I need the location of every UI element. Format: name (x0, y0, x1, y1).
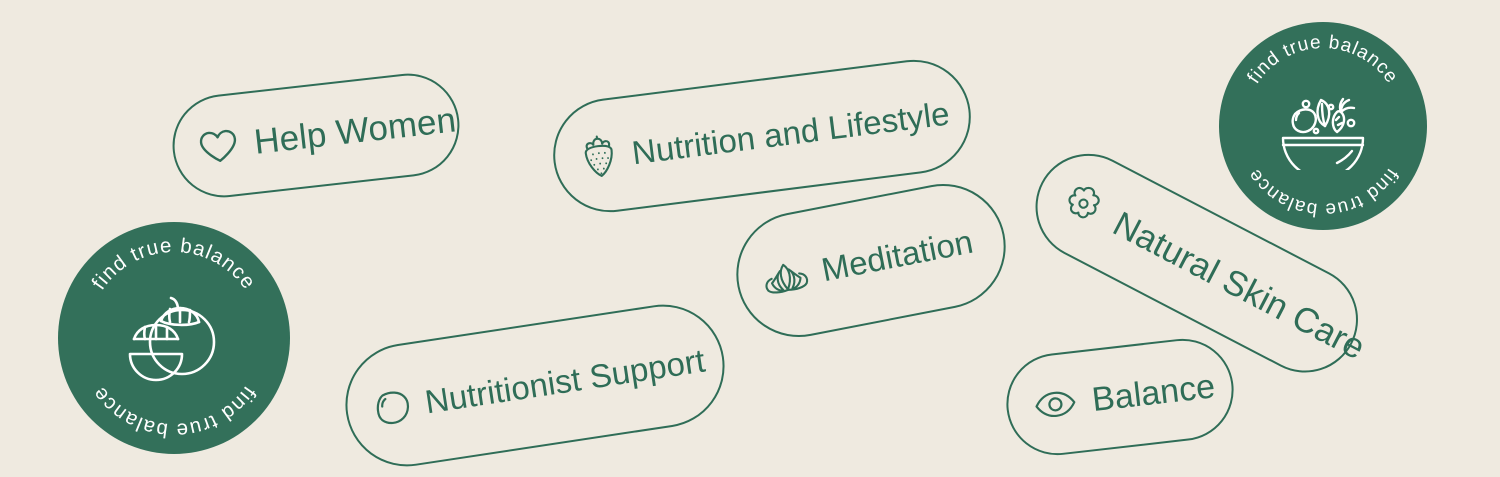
chip-meditation[interactable]: Meditation (726, 173, 1017, 348)
chip-nutritionist-support-label: Nutritionist Support (423, 344, 707, 419)
chip-help-women[interactable]: Help Women (167, 68, 465, 202)
svg-text:find true balance: find true balance (1244, 32, 1403, 88)
eye-icon (1033, 388, 1078, 421)
chip-balance[interactable]: Balance (1001, 333, 1239, 460)
mangosteen-fruit-icon (120, 294, 228, 382)
seal-badge-right[interactable]: find true balance find true balance (1219, 22, 1427, 230)
tag-cloud-canvas: find true balance find true balance (0, 0, 1500, 477)
chip-balance-label: Balance (1090, 369, 1217, 417)
svg-text:find true balance: find true balance (87, 234, 260, 294)
heart-icon (197, 126, 241, 166)
lotus-icon (760, 255, 812, 299)
seal-badge-left[interactable]: find true balance find true balance (58, 222, 290, 454)
seal-right-text-bottom: find true balance (1244, 164, 1403, 220)
seal-left-text-bottom: find true balance (87, 382, 260, 442)
flower-icon (1055, 176, 1112, 233)
strawberry-icon (579, 132, 620, 180)
chip-nutritionist-support[interactable]: Nutritionist Support (337, 296, 733, 475)
chip-help-women-label: Help Women (252, 102, 457, 159)
svg-text:find true balance: find true balance (1244, 164, 1403, 220)
lemon-icon (371, 385, 414, 428)
svg-text:find true balance: find true balance (87, 382, 260, 442)
chip-meditation-label: Meditation (819, 225, 976, 287)
chip-nutrition-and-lifestyle-label: Nutrition and Lifestyle (630, 96, 951, 169)
salad-bowl-icon (1275, 82, 1371, 170)
seal-left-text-top: find true balance (87, 234, 260, 294)
seal-right-text-top: find true balance (1244, 32, 1403, 88)
